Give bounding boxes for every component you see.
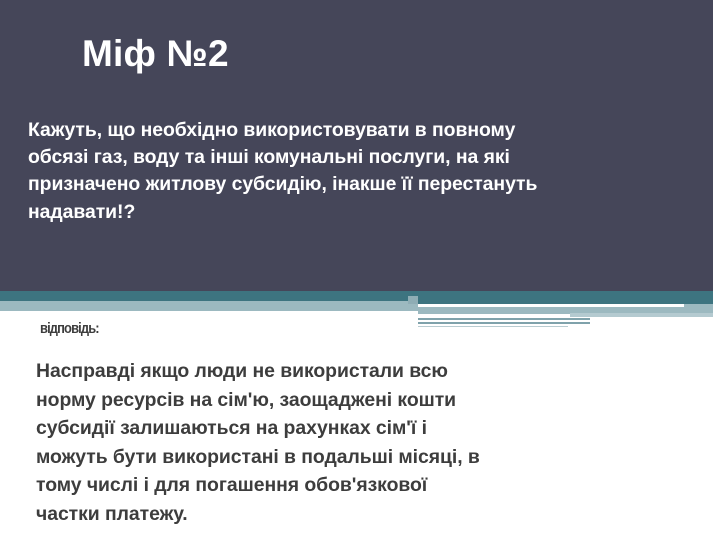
- answer-line: норму ресурсів на сім'ю, заощаджені кошт…: [36, 386, 636, 415]
- answer-body: Насправді якщо люди не використали всю н…: [36, 357, 636, 529]
- question-body: Кажуть, що необхідно використовувати в п…: [28, 117, 678, 226]
- answer-line: субсидії залишаються на рахунках сім'ї і: [36, 414, 636, 443]
- answer-label: відповідь:: [40, 320, 99, 337]
- slide-canvas: Міф №2 Кажуть, що необхідно використовув…: [0, 0, 713, 535]
- decorative-thin-line-1: [418, 318, 590, 320]
- decorative-teal-block: [418, 291, 713, 304]
- question-line: призначено житлову субсидію, інакше її п…: [28, 171, 678, 198]
- question-line: надавати!?: [28, 199, 678, 226]
- answer-line: можуть бути використані в подальші місяц…: [36, 443, 636, 472]
- answer-line: частки платежу.: [36, 500, 636, 529]
- decorative-thin-line-2: [418, 322, 590, 324]
- page-title: Міф №2: [82, 33, 229, 74]
- question-line: обсязі газ, воду та інші комунальні посл…: [28, 144, 678, 171]
- decorative-white-stripe-2: [418, 314, 570, 317]
- decorative-grey-stripe-2: [570, 313, 713, 317]
- answer-line: тому числі і для погашення обов'язкової: [36, 471, 636, 500]
- question-line: Кажуть, що необхідно використовувати в п…: [28, 117, 678, 144]
- answer-line: Насправді якщо люди не використали всю: [36, 357, 636, 386]
- decorative-thin-line-3: [418, 326, 568, 327]
